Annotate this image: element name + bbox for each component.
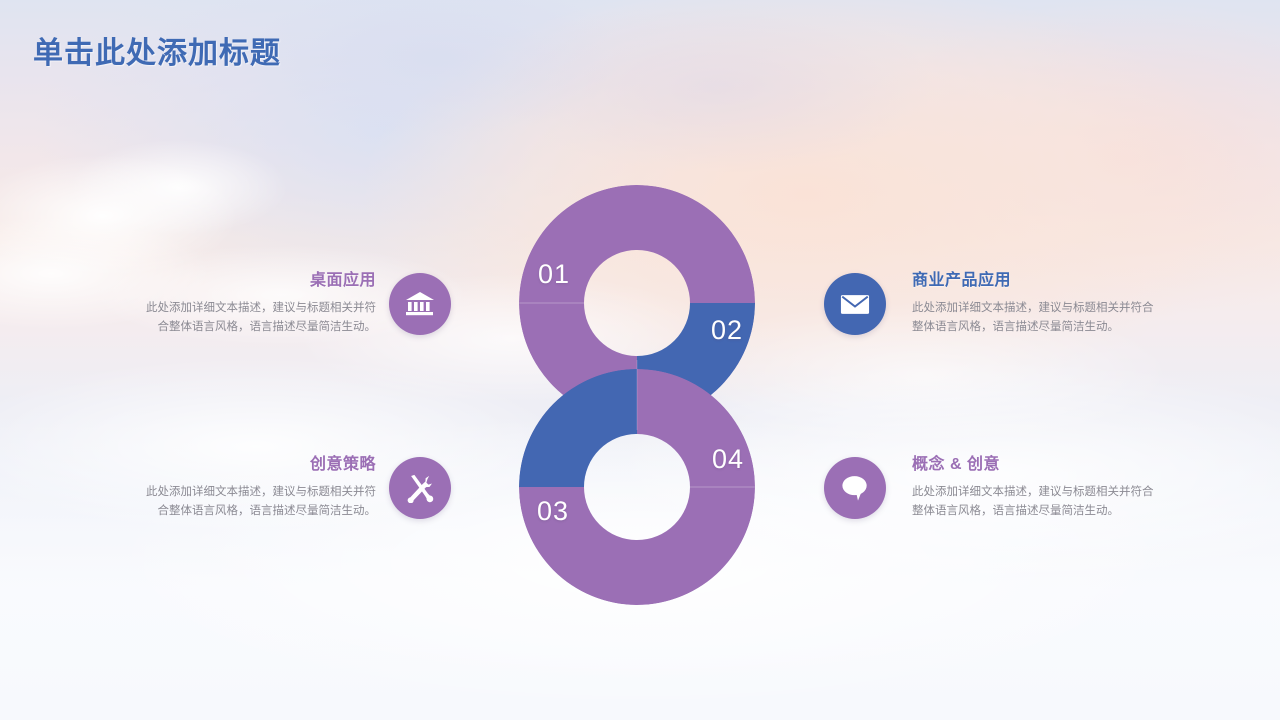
item-heading: 商业产品应用 [912,266,1160,290]
segment-label-01: 01 [538,259,570,290]
item-body: 此处添加详细文本描述，建议与标题相关并符合整体语言风格，语言描述尽量简洁生动。 [912,483,1160,521]
item-body: 此处添加详细文本描述，建议与标题相关并符合整体语言风格，语言描述尽量简洁生动。 [144,483,376,521]
segment-label-03: 03 [537,496,569,527]
bank-icon [405,290,435,318]
page-title: 单击此处添加标题 [33,28,281,72]
item-body: 此处添加详细文本描述，建议与标题相关并符合整体语言风格，语言描述尽量简洁生动。 [912,299,1160,337]
icon-button-creative-strategy[interactable] [389,457,451,519]
item-heading: 创意策略 [144,450,376,474]
item-heading: 桌面应用 [144,266,376,290]
text-block-desktop-application: 桌面应用 此处添加详细文本描述，建议与标题相关并符合整体语言风格，语言描述尽量简… [144,266,376,337]
figure-eight-diagram [489,155,789,615]
item-heading: 概念 & 创意 [912,450,1160,474]
text-block-business-product: 商业产品应用 此处添加详细文本描述，建议与标题相关并符合整体语言风格，语言描述尽… [912,266,1160,337]
item-body: 此处添加详细文本描述，建议与标题相关并符合整体语言风格，语言描述尽量简洁生动。 [144,299,376,337]
segment-label-02: 02 [711,315,743,346]
segment-label-04: 04 [712,444,744,475]
text-block-concept-creative: 概念 & 创意 此处添加详细文本描述，建议与标题相关并符合整体语言风格，语言描述… [912,450,1160,521]
icon-button-business-product[interactable] [824,273,886,335]
icon-button-concept-creative[interactable] [824,457,886,519]
slide-canvas: 单击此处添加标题 [0,0,1280,720]
speech-bubble-icon [840,474,870,502]
envelope-icon [840,293,870,316]
icon-button-desktop-application[interactable] [389,273,451,335]
tools-icon [405,473,435,503]
text-block-creative-strategy: 创意策略 此处添加详细文本描述，建议与标题相关并符合整体语言风格，语言描述尽量简… [144,450,376,521]
